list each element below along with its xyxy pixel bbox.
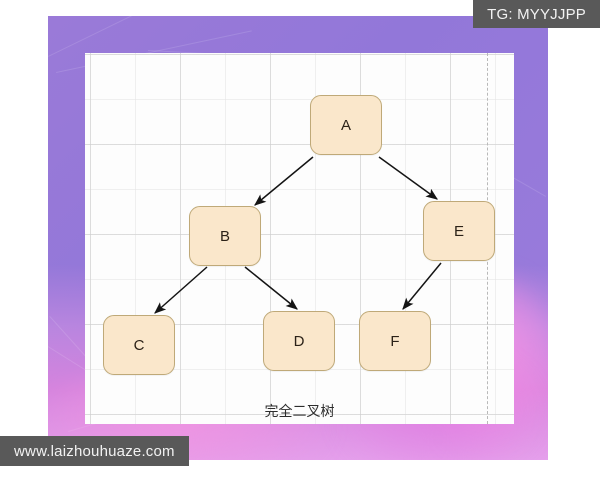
- backdrop-crease: [48, 16, 156, 57]
- tree-node-b[interactable]: B: [189, 206, 261, 266]
- edge-b-c: [155, 267, 207, 313]
- edge-a-e: [379, 157, 437, 199]
- tree-node-label: A: [341, 117, 351, 134]
- tree-node-label: E: [454, 223, 464, 240]
- edge-e-f: [403, 263, 441, 309]
- website-watermark-banner: www.laizhouhuaze.com: [0, 436, 189, 466]
- tree-node-label: C: [134, 337, 145, 354]
- screenshot-root: A B E C D F 完全二叉树 TG: MYYJJPP www.laizho…: [0, 0, 600, 480]
- edge-a-b: [255, 157, 313, 205]
- edge-b-d: [245, 267, 297, 309]
- tree-node-label: D: [294, 333, 305, 350]
- telegram-tag-banner: TG: MYYJJPP: [473, 0, 600, 28]
- tree-node-label: F: [390, 333, 399, 350]
- tree-node-d[interactable]: D: [263, 311, 335, 371]
- tree-node-label: B: [220, 228, 230, 245]
- diagram-canvas: A B E C D F 完全二叉树: [85, 53, 514, 424]
- tree-node-e[interactable]: E: [423, 201, 495, 261]
- tree-node-f[interactable]: F: [359, 311, 431, 371]
- tree-node-a[interactable]: A: [310, 95, 382, 155]
- diagram-caption: 完全二叉树: [85, 401, 514, 421]
- tree-node-c[interactable]: C: [103, 315, 175, 375]
